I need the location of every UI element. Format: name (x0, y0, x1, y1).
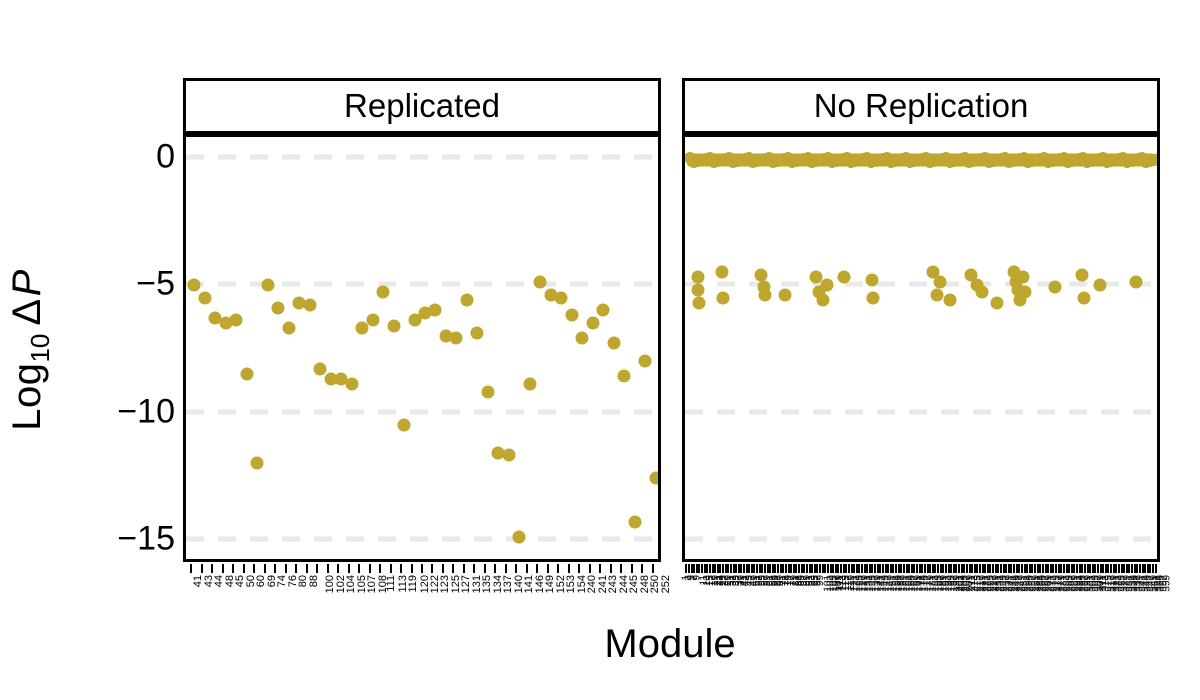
y-tick-labels: 0−5−10−15 (10, 0, 175, 700)
data-point (471, 327, 484, 340)
data-point (450, 332, 463, 345)
data-point (240, 367, 253, 380)
gridline-y--15 (685, 537, 1157, 542)
x-tick-mark (390, 564, 392, 573)
gridline-y--5 (186, 282, 658, 287)
x-tick-mark (348, 564, 350, 573)
data-point (576, 332, 589, 345)
x-tick-mark (557, 564, 559, 573)
x-tick-mark (274, 564, 276, 573)
x-tick-mark (631, 564, 633, 573)
gridline-y-0 (186, 154, 658, 159)
data-point (1076, 268, 1089, 281)
data-point (866, 273, 879, 286)
x-tick-mark (211, 564, 213, 573)
x-tick-mark (620, 564, 622, 573)
data-point (755, 268, 768, 281)
data-point (692, 271, 705, 284)
data-point (934, 276, 947, 289)
x-tick-mark (473, 564, 475, 573)
x-tick-mark (484, 564, 486, 573)
data-point (282, 322, 295, 335)
data-point (692, 283, 705, 296)
y-tick-label: −10 (25, 392, 175, 431)
x-tick-mark (610, 564, 612, 573)
data-point (821, 278, 834, 291)
data-point (188, 278, 201, 291)
data-point (975, 286, 988, 299)
data-point (377, 286, 390, 299)
x-tick-labels: 1357911131517192123252729313335373941434… (682, 573, 1160, 615)
data-point (251, 457, 264, 470)
data-point (366, 314, 379, 327)
data-point (303, 299, 316, 312)
gridline-y--5 (685, 282, 1157, 287)
x-tick-mark (400, 564, 402, 573)
data-point (693, 296, 706, 309)
x-tick-mark (285, 564, 287, 573)
data-point (618, 370, 631, 383)
data-point (555, 291, 568, 304)
data-point (607, 337, 620, 350)
data-point (523, 378, 536, 391)
x-tick-label: 252 (661, 575, 672, 593)
data-point (778, 288, 791, 301)
x-tick-marks (682, 564, 1160, 573)
x-tick-mark (316, 564, 318, 573)
x-tick-mark (536, 564, 538, 573)
y-tick-label: 0 (25, 137, 175, 176)
data-point (502, 449, 515, 462)
data-point (1093, 278, 1106, 291)
x-tick-mark (201, 564, 203, 573)
data-point (565, 309, 578, 322)
data-point (272, 301, 285, 314)
data-point (261, 278, 274, 291)
x-tick-mark (589, 564, 591, 573)
data-point (867, 291, 880, 304)
gridline-y--10 (186, 409, 658, 414)
x-tick-mark (505, 564, 507, 573)
x-tick-mark (526, 564, 528, 573)
data-point (345, 378, 358, 391)
zero-band-point (1152, 153, 1160, 165)
x-tick-mark (337, 564, 339, 573)
x-tick-marks (183, 564, 661, 573)
data-point (1130, 276, 1143, 289)
x-tick-mark (411, 564, 413, 573)
gridline-y--15 (186, 537, 658, 542)
x-tick-mark (379, 564, 381, 573)
x-tick-mark (494, 564, 496, 573)
data-point (639, 355, 652, 368)
x-tick-mark (431, 564, 433, 573)
facet-strip-label-replicated: Replicated (183, 78, 661, 134)
x-tick-mark (568, 564, 570, 573)
data-point (398, 418, 411, 431)
x-tick-label: 88 (308, 575, 319, 587)
x-tick-mark (253, 564, 255, 573)
gridline-y--10 (685, 409, 1157, 414)
data-point (597, 304, 610, 317)
data-point (198, 291, 211, 304)
x-tick-mark (369, 564, 371, 573)
x-tick-mark (1155, 564, 1157, 573)
data-point (513, 530, 526, 543)
x-tick-mark (190, 564, 192, 573)
x-tick-mark (599, 564, 601, 573)
figure-canvas: Log10ΔP 0−5−10−15 Replicated414344484550… (0, 0, 1200, 700)
x-tick-mark (442, 564, 444, 573)
data-point (429, 304, 442, 317)
data-point (460, 294, 473, 307)
data-point (944, 294, 957, 307)
data-point (628, 515, 641, 528)
data-point (837, 271, 850, 284)
data-point (481, 385, 494, 398)
x-tick-label: 119 (408, 575, 419, 593)
data-point (716, 291, 729, 304)
y-tick-label: −5 (25, 265, 175, 304)
x-tick-mark (463, 564, 465, 573)
plot-area-no-replication (682, 134, 1160, 562)
x-tick-mark (243, 564, 245, 573)
data-point (649, 472, 661, 485)
x-tick-mark (232, 564, 234, 573)
x-tick-labels: 4143444845506069747680881001021041051071… (183, 573, 661, 615)
data-point (314, 362, 327, 375)
data-point (1017, 271, 1030, 284)
x-tick-mark (515, 564, 517, 573)
data-point (1049, 281, 1062, 294)
y-tick-label: −15 (25, 520, 175, 559)
data-point (715, 266, 728, 279)
data-point (586, 316, 599, 329)
data-point (816, 294, 829, 307)
x-tick-mark (358, 564, 360, 573)
x-axis-title: Module (180, 622, 1160, 667)
x-tick-mark (222, 564, 224, 573)
x-tick-mark (452, 564, 454, 573)
data-point (931, 288, 944, 301)
data-point (1019, 286, 1032, 299)
x-tick-mark (327, 564, 329, 573)
x-tick-mark (264, 564, 266, 573)
x-tick-mark (641, 564, 643, 573)
x-tick-mark (652, 564, 654, 573)
data-point (230, 314, 243, 327)
x-tick-label: 359 (1162, 575, 1172, 592)
data-point (758, 288, 771, 301)
plot-area-replicated (183, 134, 661, 562)
facet-panel-replicated: Replicated414344484550606974768088100102… (183, 78, 661, 562)
x-tick-mark (295, 564, 297, 573)
x-tick-mark (306, 564, 308, 573)
x-tick-mark (421, 564, 423, 573)
facet-panel-no-replication: No Replication13579111315171921232527293… (682, 78, 1160, 562)
x-tick-mark (547, 564, 549, 573)
data-point (534, 276, 547, 289)
data-point (387, 319, 400, 332)
facet-strip-label-no-replication: No Replication (682, 78, 1160, 134)
data-point (991, 296, 1004, 309)
x-tick-mark (578, 564, 580, 573)
data-point (1077, 291, 1090, 304)
x-tick-label: 111 (386, 575, 397, 592)
